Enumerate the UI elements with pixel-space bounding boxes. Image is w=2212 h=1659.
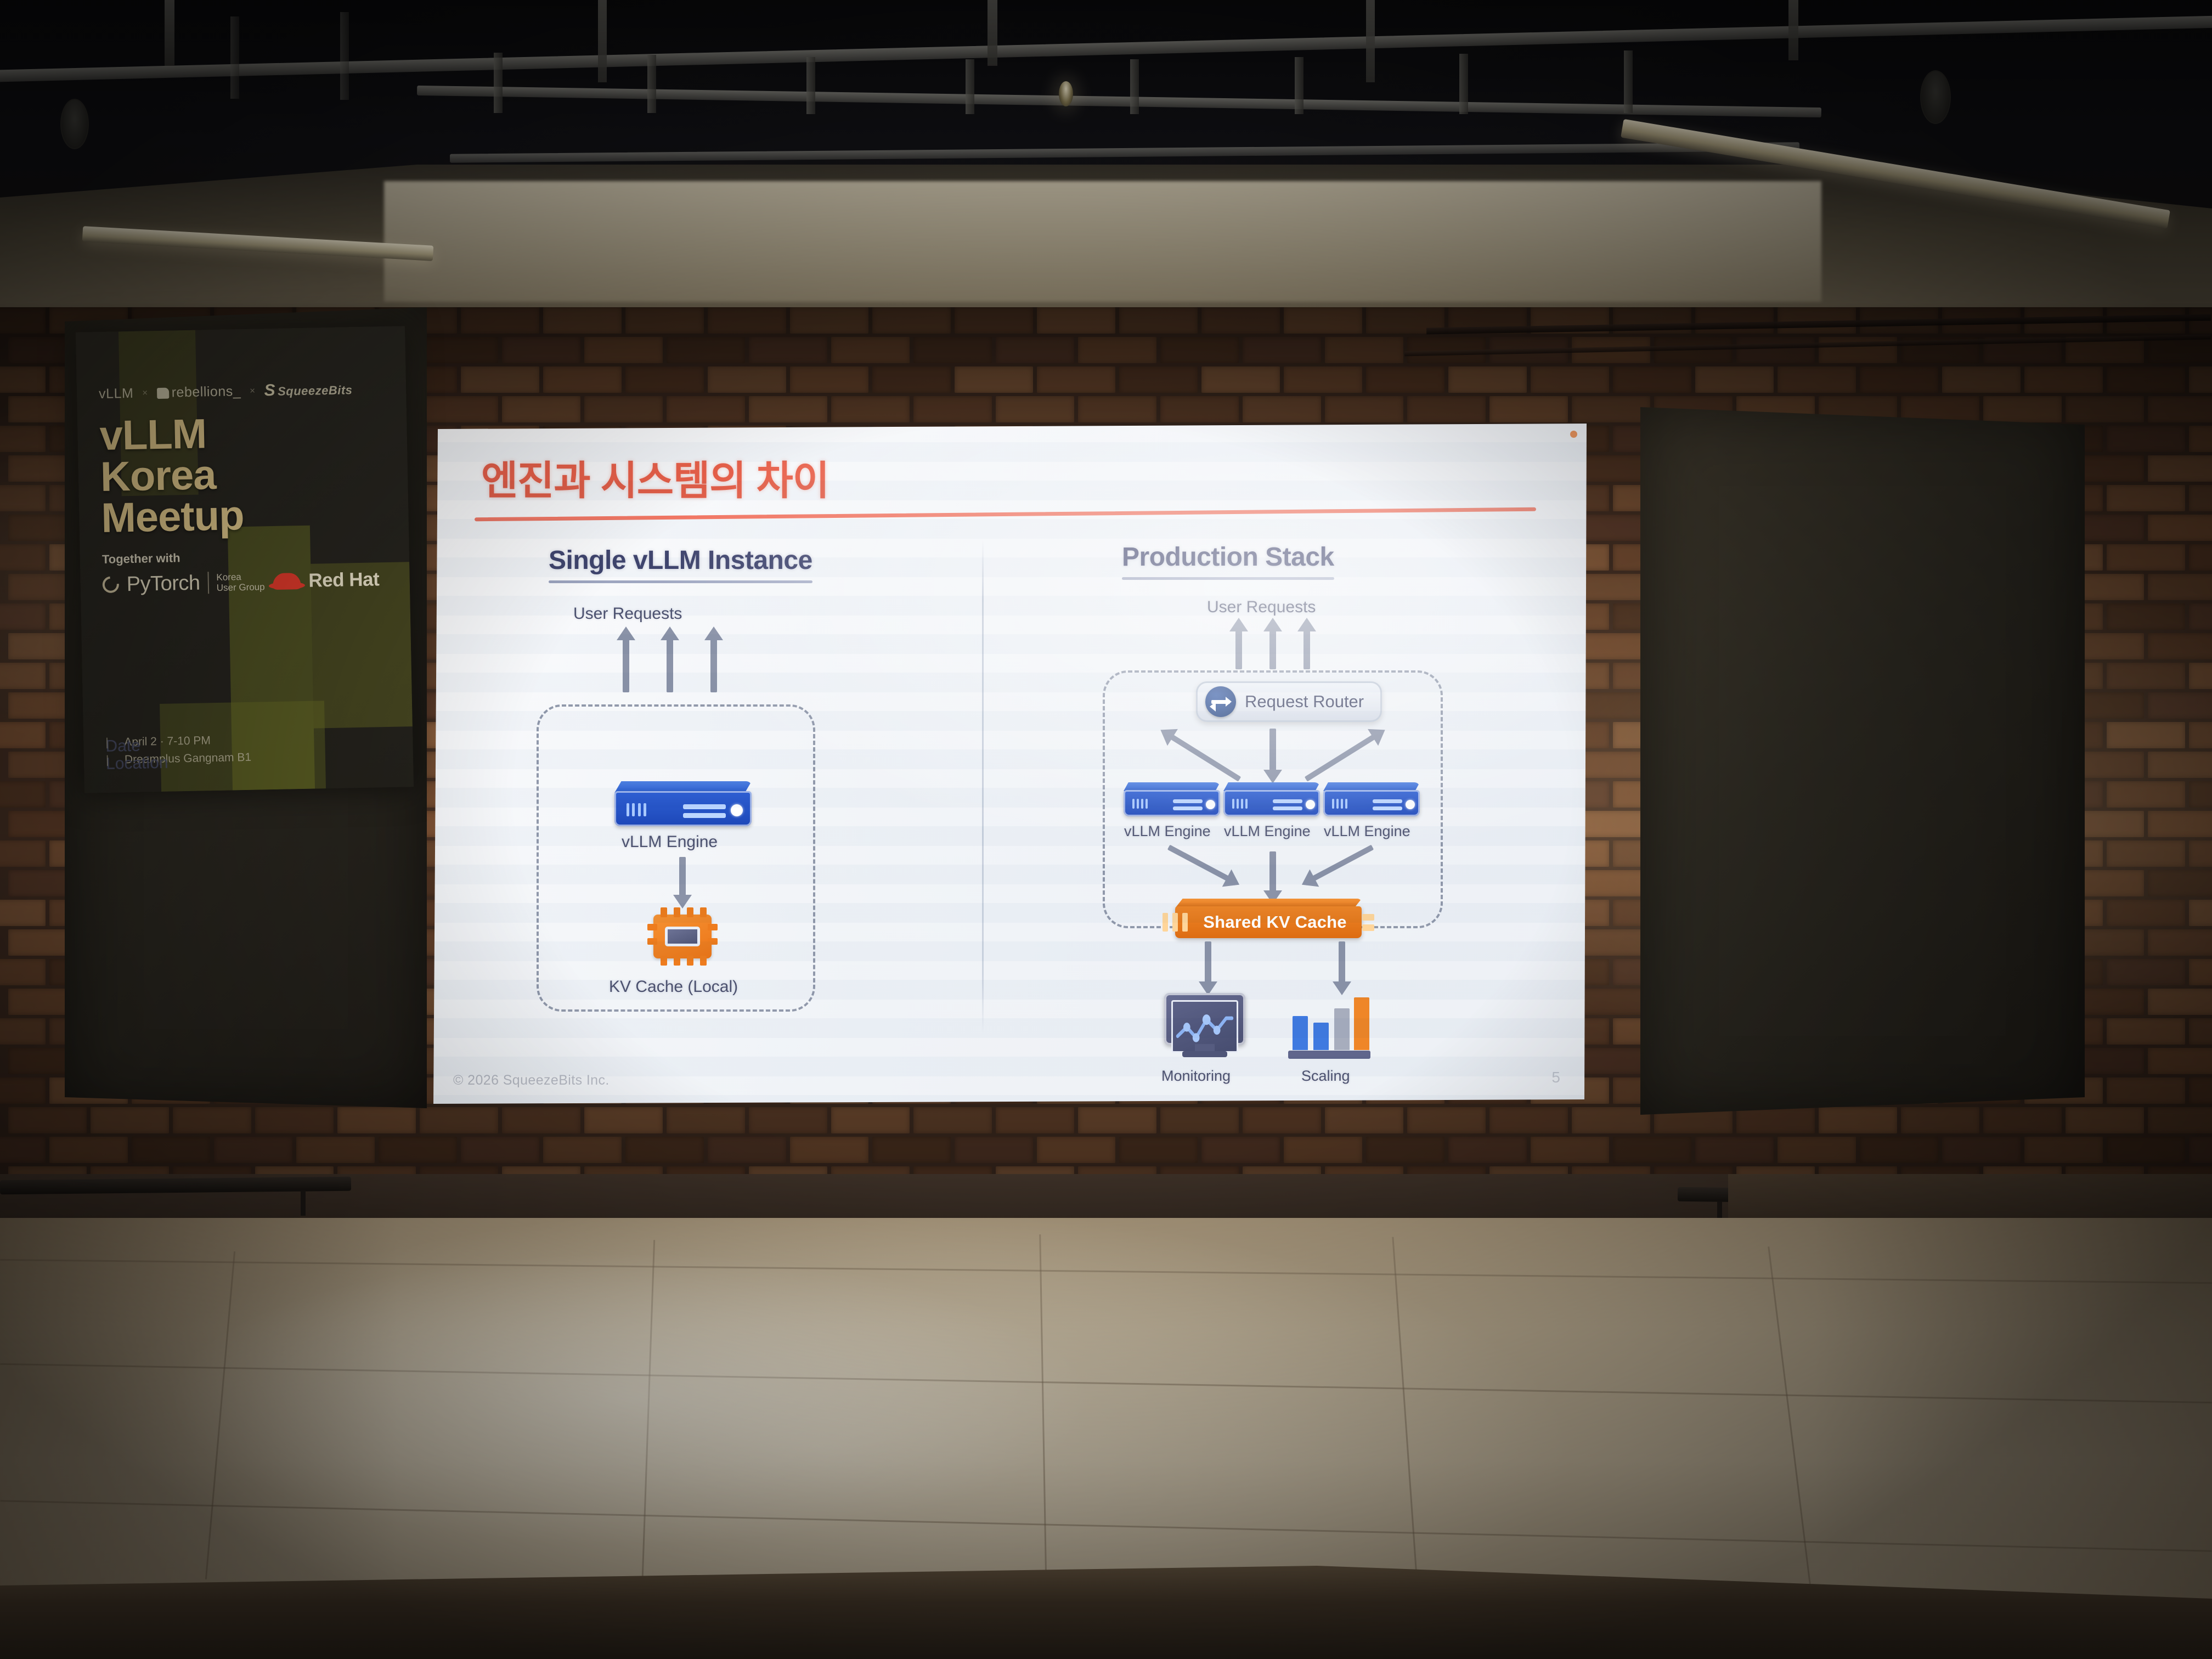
shared-kv-cache-label: Shared KV Cache [1203,912,1346,932]
right-vllm-engine-icon [1223,782,1320,816]
partner-divider [207,572,209,594]
right-engine-label: vLLM Engine [1124,823,1211,840]
squeezebits-logo: SSqueezeBits [264,380,352,400]
cache-to-monitoring-arrow [1205,941,1211,983]
right-request-arrow [1269,629,1276,669]
redhat-label: Red Hat [308,569,379,592]
left-request-arrow [710,637,717,692]
slide-page-number: 5 [1551,1069,1560,1086]
left-engine-label: vLLM Engine [622,833,718,851]
vllm-logo: vLLM [99,385,134,402]
scaling-bar [1313,1023,1329,1050]
ceiling-vent-icon [60,99,89,149]
slide: 엔진과 시스템의 차이 Single vLLM Instance User Re… [433,424,1587,1104]
event-poster: vLLM × rebellions_ × SSqueezeBits vLLM K… [76,326,414,793]
right-engine-label: vLLM Engine [1324,823,1410,840]
ceiling-vent-icon [1920,70,1951,124]
router-to-engine-arrow [1269,729,1276,771]
poster-together-label: Together with [102,546,409,567]
right-vllm-engine-icon [1124,782,1220,816]
scaling-bar [1293,1016,1308,1050]
redhat-hat-icon [272,573,301,590]
poster-date-row: Date|April 2 · 7-10 PM [105,731,251,752]
right-user-requests-label: User Requests [1207,598,1316,617]
monitoring-label: Monitoring [1161,1068,1231,1085]
left-vllm-engine-icon [614,781,752,826]
pytorch-label: PyTorch [126,571,200,596]
kv-bars-icon [1163,913,1188,932]
scaling-icon [1288,991,1370,1059]
room-scene: vLLM × rebellions_ × SSqueezeBits vLLM K… [0,0,2212,1659]
left-request-arrow [623,637,629,692]
right-request-arrow [1235,629,1242,669]
scaling-bar [1334,1008,1350,1050]
scaling-label: Scaling [1301,1068,1350,1085]
left-request-arrow [667,637,673,692]
kv-lines-icon [1362,914,1374,931]
left-cache-label: KV Cache (Local) [609,978,738,996]
poster-logo-row: vLLM × rebellions_ × SSqueezeBits [99,379,407,403]
wall-panel-right [1640,407,2085,1115]
request-router[interactable]: Request Router [1196,681,1382,722]
request-router-label: Request Router [1245,692,1364,712]
s-mark-icon: S [264,381,275,400]
logo-separator-icon: × [250,386,256,397]
cube-icon [157,387,169,398]
rebellions-logo: rebellions_ [156,383,241,401]
poster-meta: Date|April 2 · 7-10 PM Location|Dreamplu… [105,731,251,769]
slide-title: 엔진과 시스템의 차이 [481,448,829,506]
right-request-arrow [1304,629,1310,669]
left-user-requests-label: User Requests [573,605,682,623]
cache-to-scaling-arrow [1339,941,1345,983]
poster-partners: PyTorch Korea User Group Red Hat [102,567,410,597]
left-engine-to-cache-arrow [679,857,686,896]
projection-screen: 엔진과 시스템의 차이 Single vLLM Instance User Re… [433,424,1587,1104]
pytorch-kug-label: Korea User Group [216,571,265,593]
left-panel-heading: Single vLLM Instance [549,545,812,583]
logo-separator-icon: × [142,387,148,398]
scaling-bar [1354,997,1369,1050]
bench-leg [301,1190,306,1216]
slide-title-rule [475,507,1536,522]
router-icon [1205,686,1236,717]
stage-floor [0,1218,2212,1659]
right-vllm-engine-icon [1323,782,1420,816]
shared-kv-cache: Shared KV Cache [1175,899,1362,938]
pytorch-logo-icon [99,573,122,596]
slide-copyright: © 2026 SqueezeBits Inc. [453,1073,610,1088]
ceiling-spotlight-icon [1059,81,1073,106]
right-engine-label: vLLM Engine [1224,823,1311,840]
engine-to-cache-arrow [1269,851,1276,892]
monitoring-icon [1164,993,1245,1060]
right-panel-heading: Production Stack [1122,542,1334,580]
left-kv-cache-icon [646,906,719,967]
poster-title: vLLM Korea Meetup [99,409,409,539]
slide-corner-dot-icon [1570,431,1577,438]
poster-location-row: Location|Dreamplus Gangnam B1 [106,748,252,769]
soffit-lit-band [384,181,1821,302]
panel-divider [982,540,984,1034]
